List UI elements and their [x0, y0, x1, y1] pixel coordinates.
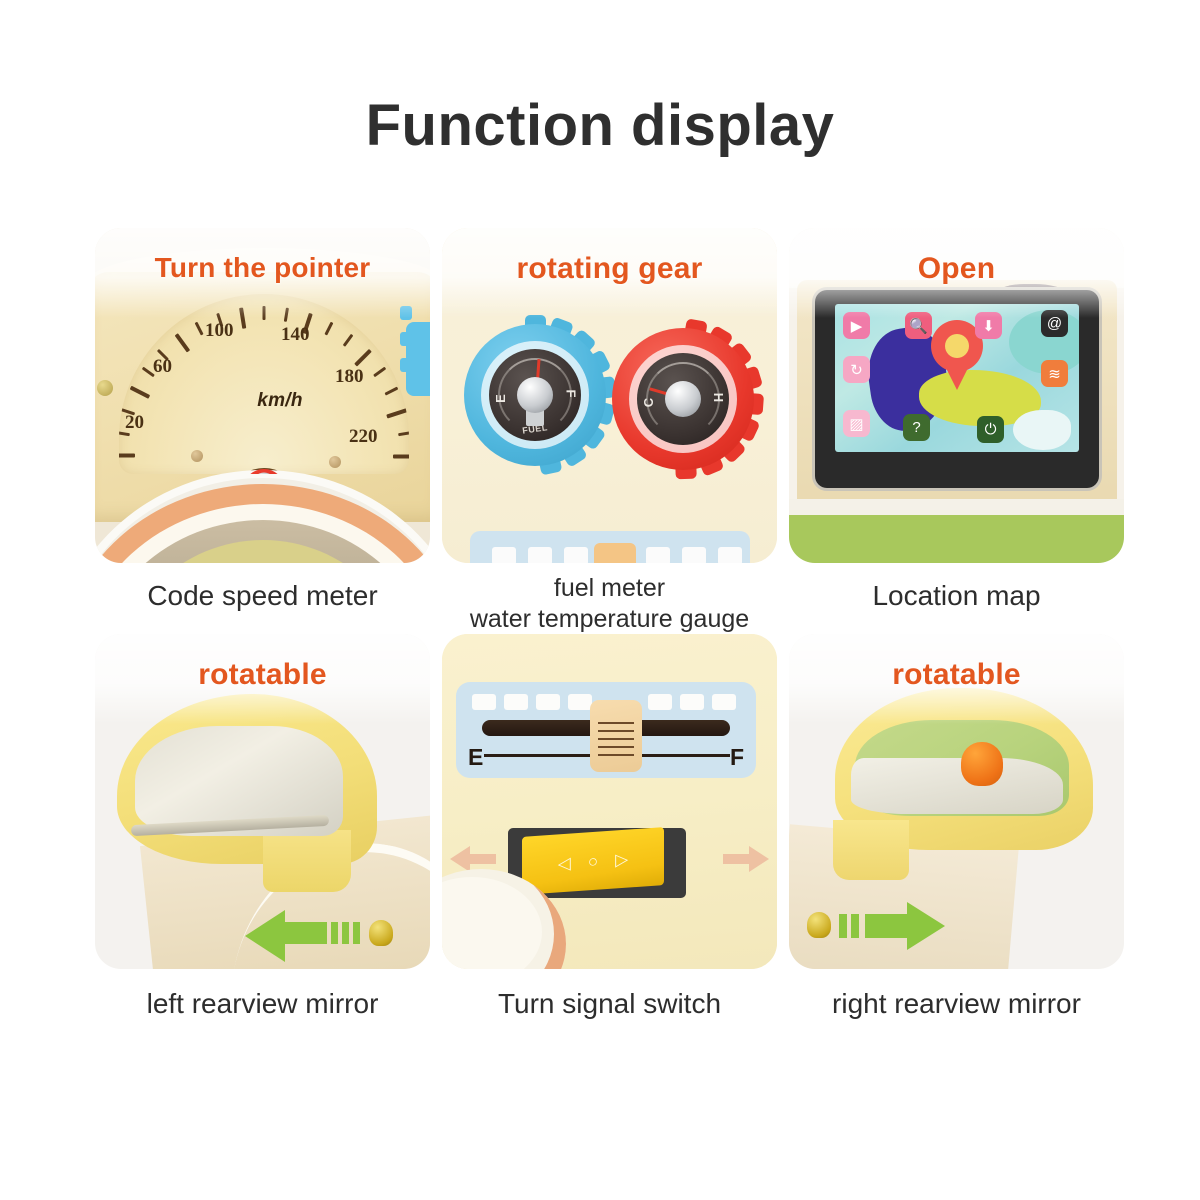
function-display-page: Function display [0, 0, 1200, 1200]
speed-tick-60: 60 [153, 356, 172, 378]
right-arrow-dash-2 [851, 914, 859, 938]
left-hint-arrow-shaft [466, 854, 496, 864]
blue-gear-peek [406, 322, 430, 396]
speed-tick-20: 20 [125, 412, 144, 434]
card-turn-signal-switch[interactable]: E F ◁ ○ ▷ [442, 634, 777, 969]
temperature-gauge-gear[interactable]: C H [612, 328, 754, 470]
temperature-gear-hub [665, 381, 701, 417]
caption-right-rearview-mirror: right rearview mirror [789, 987, 1124, 1021]
indicator-knob[interactable] [369, 920, 393, 946]
right-hint-arrow-shaft [723, 854, 753, 864]
mirror-stem [263, 830, 351, 892]
dial-peg-left [191, 450, 203, 462]
mirror-adjust-knob[interactable] [961, 742, 1003, 786]
feature-cell-right-mirror: rotatable right rearview mirror [789, 634, 1124, 1021]
card-header-turn-the-pointer: Turn the pointer [95, 228, 430, 284]
left-arrow-dash-3 [353, 922, 360, 944]
fuel-slider-knob-peek [594, 543, 636, 563]
feature-cell-location-map: ▶ 🔍 ⬇ @ ↻ ≋ ▨ ? ⏻ ◔ ◍ ↩ [789, 228, 1124, 634]
panel-bolt-icon [97, 380, 113, 396]
left-arrow-dash-1 [331, 922, 338, 944]
caption-fuel-temperature: fuel meter water temperature gauge [442, 573, 777, 634]
dial-peg-right [329, 456, 341, 468]
card-header-open: Open [789, 228, 1124, 286]
indicator-knob[interactable] [807, 912, 831, 938]
turn-right-icon: ▷ [615, 850, 628, 868]
rocker-switch[interactable]: ◁ ○ ▷ [522, 827, 664, 895]
turn-off-icon: ○ [588, 852, 598, 870]
slider-knob[interactable] [590, 700, 642, 772]
fuel-slider-panel-peek [470, 531, 750, 563]
fuel-gauge-gear[interactable]: E F FUEL [464, 324, 606, 466]
feature-cell-turn-signal: E F ◁ ○ ▷ Turn sign [442, 634, 777, 1021]
page-title: Function display [0, 92, 1200, 159]
card-location-map[interactable]: ▶ 🔍 ⬇ @ ↻ ≋ ▨ ? ⏻ ◔ ◍ ↩ [789, 228, 1124, 563]
left-arrow-dash-2 [342, 922, 349, 944]
map-landmass-bottom-right [1013, 410, 1071, 450]
right-arrow-shaft [865, 914, 909, 938]
temperature-gauge-label-cold: C [641, 398, 656, 407]
caption-left-rearview-mirror: left rearview mirror [95, 987, 430, 1021]
mirror-glass-silver [851, 758, 1063, 814]
body-green-strip [789, 515, 1124, 563]
card-header-rotatable-left: rotatable [95, 634, 430, 692]
fuel-gauge-label-full: F [564, 389, 579, 397]
feature-cell-code-speed-meter: 20 60 100 140 180 220 km/h [95, 228, 430, 634]
feature-cell-left-mirror: rotatable left rearview mirror [95, 634, 430, 1021]
wifi-icon[interactable]: ≋ [1041, 360, 1068, 387]
caption-location-map: Location map [789, 579, 1124, 613]
left-arrow-shaft [283, 922, 327, 944]
temperature-gauge-label-hot: H [711, 393, 726, 402]
feature-cell-fuel-temperature: E F FUEL [442, 228, 777, 634]
fuel-gear-hub [517, 377, 553, 413]
fuel-gauge-label-empty: E [493, 394, 508, 403]
fuel-slider-panel: E F [456, 682, 756, 778]
card-header-rotating-gear: rotating gear [442, 228, 777, 286]
card-rotating-gear[interactable]: E F FUEL [442, 228, 777, 563]
caption-turn-signal-switch: Turn signal switch [442, 987, 777, 1021]
mirror-stem [833, 820, 909, 880]
caption-code-speed-meter: Code speed meter [95, 579, 430, 613]
speed-tick-180: 180 [335, 366, 364, 388]
right-arrow-dash-1 [839, 914, 847, 938]
card-left-rearview-mirror[interactable]: rotatable [95, 634, 430, 969]
speed-tick-140: 140 [281, 324, 310, 346]
question-icon[interactable]: ? [903, 414, 930, 441]
speed-tick-220: 220 [349, 426, 378, 448]
left-arrow-icon [245, 910, 285, 962]
turn-left-icon: ◁ [558, 854, 571, 872]
slider-label-empty: E [468, 744, 483, 771]
right-arrow-icon [907, 902, 945, 950]
feature-grid: 20 60 100 140 180 220 km/h [95, 228, 1125, 1021]
body-white-strip [789, 499, 1124, 515]
power-icon[interactable]: ⏻ [977, 416, 1004, 443]
slider-label-full: F [730, 744, 744, 771]
refresh-icon[interactable]: ↻ [843, 356, 870, 383]
tablet-screen[interactable]: ▶ 🔍 ⬇ @ ↻ ≋ ▨ ? ⏻ [835, 304, 1079, 452]
photo-icon[interactable]: ▨ [843, 410, 870, 437]
card-right-rearview-mirror[interactable]: rotatable [789, 634, 1124, 969]
card-code-speed-meter[interactable]: 20 60 100 140 180 220 km/h [95, 228, 430, 563]
speed-unit-label: km/h [257, 390, 303, 412]
card-header-rotatable-right: rotatable [789, 634, 1124, 692]
speed-tick-100: 100 [205, 320, 234, 342]
